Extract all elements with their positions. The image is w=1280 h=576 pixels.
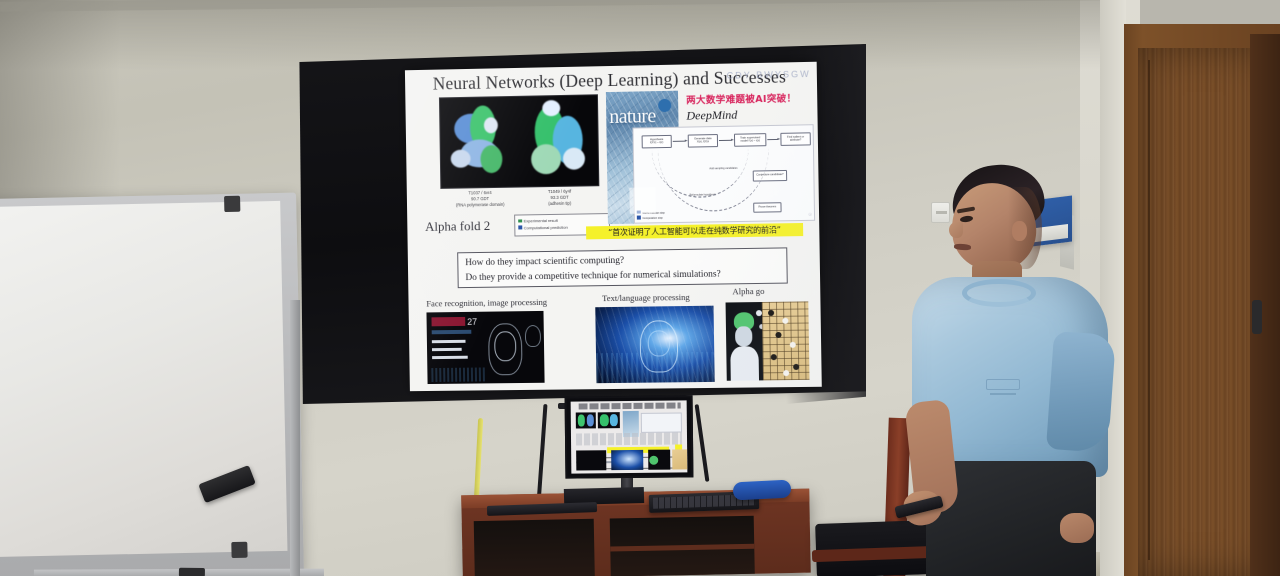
deepmind-flowchart: Hypothesisf(X'z) ~ t(z) Generate dataX(z… — [632, 124, 815, 223]
presenter — [900, 165, 1110, 576]
flow-box-0: Hypothesisf(X'z) ~ t(z) — [642, 135, 672, 149]
protein-right-id: T1049 / 6y4f — [548, 189, 571, 194]
legend-item-0: Experimental result — [524, 218, 558, 224]
protein-right-domain: (adhesin tip) — [548, 201, 571, 206]
flow-box-5: Prove theorem — [753, 202, 781, 213]
protein-image-left — [440, 97, 520, 188]
text-language-processing-image — [595, 306, 714, 384]
go-player-photo — [726, 302, 764, 381]
desk-compartment-left — [474, 519, 595, 576]
whiteboard[interactable] — [0, 193, 304, 576]
alpha-fold-label: Alpha fold 2 — [425, 218, 490, 235]
highlighted-quote: “首次证明了人工智能可以走在纯数学研究的前沿” — [586, 223, 803, 239]
room-scene: Neural Networks (Deep Learning) and Succ… — [0, 0, 1280, 576]
caption-face-recognition: Face recognition, image processing — [426, 297, 547, 309]
legend-item-1: Computational prediction — [524, 224, 568, 230]
flow-watermark-icon: ☉ — [808, 212, 812, 217]
shirt-collar — [962, 279, 1036, 307]
protein-left-gdt: 90.7 GDT — [471, 196, 489, 201]
monitor-mirrored-slide — [571, 400, 688, 473]
go-board — [762, 301, 810, 380]
flow-arrow — [767, 139, 778, 140]
nature-badge-icon — [658, 99, 671, 112]
door-handle[interactable] — [1252, 300, 1262, 334]
protein-caption-row: T1037 / 6vr4 90.7 GDT (RNA polymerase do… — [440, 188, 599, 209]
nose — [949, 222, 963, 238]
whiteboard-corner — [224, 196, 240, 212]
right-hand — [1060, 513, 1094, 543]
flow-legend-1: Computation step — [642, 217, 662, 220]
wall-mounted-tv[interactable]: Neural Networks (Deep Learning) and Succ… — [296, 44, 866, 404]
whiteboard-surface[interactable] — [0, 201, 287, 557]
whiteboard-corner — [231, 542, 247, 558]
flow-arrow — [673, 141, 686, 142]
caption-alpha-go: Alpha go — [732, 286, 764, 296]
door-inner-line — [1148, 60, 1150, 560]
flow-box-3: Find salient orattribute? — [780, 132, 811, 146]
monitor-screen[interactable] — [565, 395, 694, 478]
flow-box-1: Generate dataX(z), f(X)z — [688, 134, 718, 148]
marker-pen[interactable] — [179, 568, 205, 576]
questions-box: How do they impact scientific computing?… — [457, 247, 788, 288]
nature-cover-square — [629, 187, 655, 213]
nature-wordmark: nature — [609, 105, 656, 129]
protein-left-domain: (RNA polymerase domain) — [456, 202, 505, 208]
presentation-slide: Neural Networks (Deep Learning) and Succ… — [405, 62, 822, 391]
protein-image-right — [518, 95, 598, 186]
face-recognition-image: 27 — [426, 311, 544, 384]
chinese-headline: 两大数学难题被AI突破！ — [686, 90, 797, 106]
caption-text-language: Text/language processing — [602, 292, 690, 303]
protein-left-id: T1037 / 6vr4 — [468, 190, 491, 195]
protein-structure-images — [439, 94, 599, 189]
ear — [1012, 221, 1027, 241]
protein-right-gdt: 93.3 GDT — [551, 195, 569, 200]
slide-watermark: CDY BWYSGW — [727, 69, 811, 81]
deepmind-label: DeepMind — [686, 108, 737, 124]
flow-box-2: Train supervisedmodel f'(z) ~ t(z) — [734, 133, 766, 147]
blue-pouch[interactable] — [733, 479, 792, 500]
flow-arrow — [719, 140, 732, 141]
shirt-chest-logo — [986, 379, 1020, 390]
alpha-go-image — [726, 301, 810, 380]
